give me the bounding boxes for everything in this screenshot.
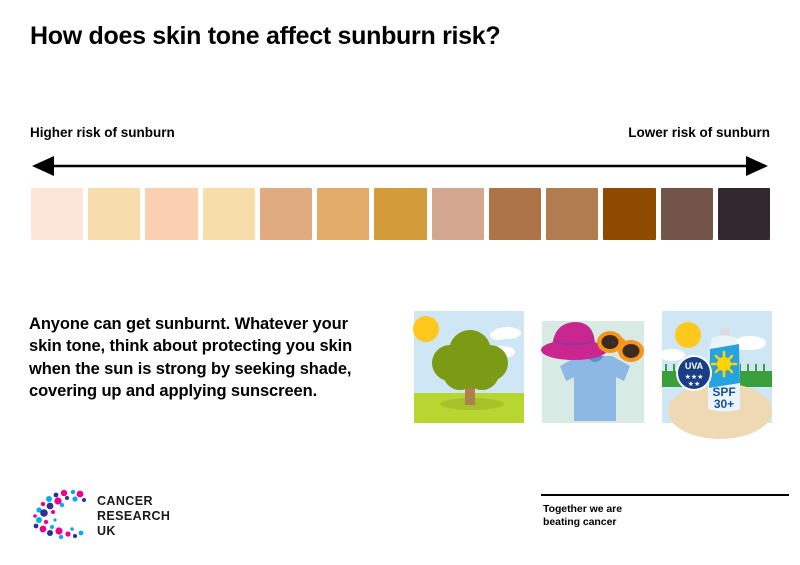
strapline-divider [541, 494, 789, 496]
strapline-text: Together we are beating cancer [543, 503, 622, 529]
skin-tone-swatch-strip [31, 188, 770, 240]
logo-line3-text: UK [97, 524, 116, 538]
illustration-cover-up [538, 311, 648, 423]
uva-stars-row1: ★★★ [685, 373, 704, 381]
illustration-apply-sunscreen: SPF 30+ UVA ★★★ ★★ [662, 311, 772, 423]
uva-badge-text: UVA [685, 361, 704, 371]
tree-shade-icon [414, 311, 524, 423]
advice-paragraph: Anyone can get sunburnt. Whatever your s… [29, 313, 374, 402]
skin-tone-swatch-9 [489, 188, 541, 240]
skin-tone-swatch-8 [432, 188, 484, 240]
double-arrow-icon [30, 156, 770, 176]
skin-tone-swatch-13 [718, 188, 770, 240]
skin-tone-swatch-2 [88, 188, 140, 240]
page-title: How does skin tone affect sunburn risk? [30, 22, 500, 51]
bottle-shape: SPF 30+ [708, 328, 740, 412]
skin-tone-swatch-12 [661, 188, 713, 240]
skin-tone-swatch-5 [260, 188, 312, 240]
skin-tone-swatch-3 [145, 188, 197, 240]
logo-line2-text: RESEARCH [97, 509, 170, 523]
sunscreen-bottle-icon: SPF 30+ UVA ★★★ ★★ [662, 311, 772, 423]
uva-stars-row2: ★★ [688, 380, 701, 388]
illustration-seek-shade [414, 311, 524, 423]
uva-badge: UVA ★★★ ★★ [676, 355, 712, 391]
hat-tshirt-sunglasses-icon [538, 311, 648, 423]
skin-tone-swatch-4 [203, 188, 255, 240]
risk-scale-labels: Higher risk of sunburn Lower risk of sun… [30, 125, 770, 141]
skin-tone-swatch-10 [546, 188, 598, 240]
lower-risk-label: Lower risk of sunburn [628, 125, 770, 140]
risk-scale-arrow [30, 156, 770, 176]
higher-risk-label: Higher risk of sunburn [30, 125, 175, 140]
illustration-panels: SPF 30+ UVA ★★★ ★★ [414, 311, 772, 423]
sun-glyph [712, 352, 736, 376]
skin-tone-swatch-7 [374, 188, 426, 240]
spf-line2-text: 30+ [714, 397, 734, 411]
skin-tone-swatch-6 [317, 188, 369, 240]
logo-line1-text: CANCER [97, 494, 153, 508]
cancer-research-uk-logo-icon: CANCER RESEARCH UK [31, 489, 191, 541]
skin-tone-swatch-11 [603, 188, 655, 240]
logo-dot-cluster [33, 490, 86, 539]
cruk-logo: CANCER RESEARCH UK [31, 489, 191, 541]
skin-tone-swatch-1 [31, 188, 83, 240]
